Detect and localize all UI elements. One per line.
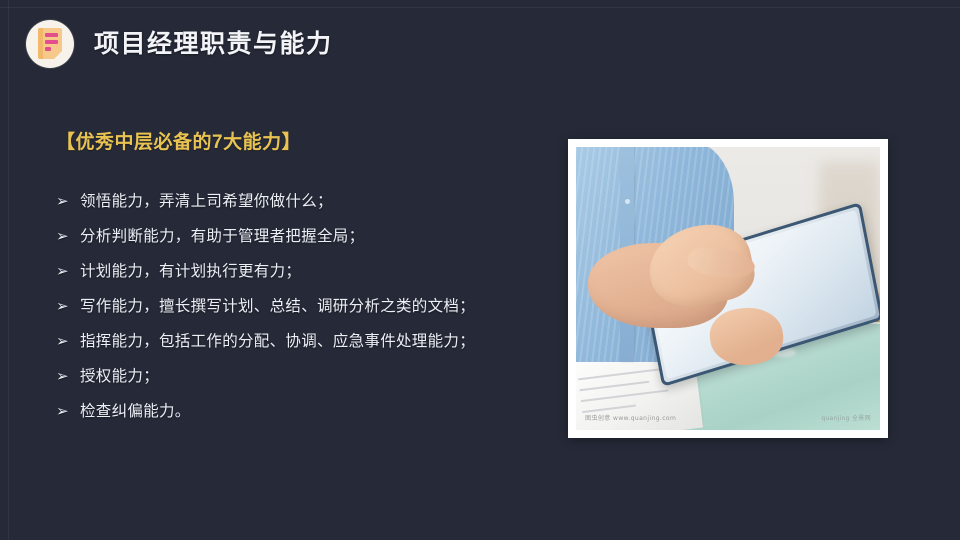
list-item: ➢ 计划能力，有计划执行更有力； <box>56 261 556 283</box>
photo-watermark-left: 图虫创意 www.quanjing.com <box>585 413 676 422</box>
arrow-bullet-icon: ➢ <box>56 226 80 248</box>
list-item: ➢ 分析判断能力，有助于管理者把握全局； <box>56 226 556 248</box>
document-bar-bottom <box>45 47 51 51</box>
photo-frame: 图虫创意 www.quanjing.com quanjing 全景网 <box>568 139 888 438</box>
list-item-label: 分析判断能力，有助于管理者把握全局； <box>80 226 364 248</box>
photo-watermark-right: quanjing 全景网 <box>821 413 871 422</box>
photo-paper-line <box>581 389 669 402</box>
list-item-label: 检查纠偏能力。 <box>80 401 191 423</box>
list-item: ➢ 写作能力，擅长撰写计划、总结、调研分析之类的文档； <box>56 296 556 318</box>
capability-list: ➢ 领悟能力，弄清上司希望你做什么； ➢ 分析判断能力，有助于管理者把握全局； … <box>56 191 556 423</box>
document-bar-middle <box>45 40 58 44</box>
slide-canvas: 项目经理职责与能力 【优秀中层必备的7大能力】 ➢ 领悟能力，弄清上司希望你做什… <box>0 0 960 540</box>
document-badge-icon <box>26 20 74 68</box>
list-item-label: 写作能力，擅长撰写计划、总结、调研分析之类的文档； <box>80 296 475 318</box>
list-item: ➢ 检查纠偏能力。 <box>56 401 556 423</box>
arrow-bullet-icon: ➢ <box>56 401 80 423</box>
list-item: ➢ 指挥能力，包括工作的分配、协调、应急事件处理能力； <box>56 331 556 353</box>
list-item: ➢ 领悟能力，弄清上司希望你做什么； <box>56 191 556 213</box>
photo-paper-line <box>578 368 661 380</box>
arrow-bullet-icon: ➢ <box>56 331 80 353</box>
document-bar-top <box>45 33 58 37</box>
arrow-bullet-icon: ➢ <box>56 261 80 283</box>
arrow-bullet-icon: ➢ <box>56 191 80 213</box>
photo-shirt-button <box>625 199 630 204</box>
list-item-label: 计划能力，有计划执行更有力； <box>80 261 301 283</box>
arrow-bullet-icon: ➢ <box>56 296 80 318</box>
page-title: 项目经理职责与能力 <box>94 32 333 57</box>
arrow-bullet-icon: ➢ <box>56 366 80 388</box>
list-item-label: 指挥能力，包括工作的分配、协调、应急事件处理能力； <box>80 331 475 353</box>
section-heading: 【优秀中层必备的7大能力】 <box>56 132 556 155</box>
document-spine <box>38 28 43 59</box>
content-column: 【优秀中层必备的7大能力】 ➢ 领悟能力，弄清上司希望你做什么； ➢ 分析判断能… <box>56 132 556 436</box>
list-item: ➢ 授权能力； <box>56 366 556 388</box>
list-item-label: 授权能力； <box>80 366 159 388</box>
tablet-usage-photo: 图虫创意 www.quanjing.com quanjing 全景网 <box>576 147 880 430</box>
list-item-label: 领悟能力，弄清上司希望你做什么； <box>80 191 333 213</box>
slide-header: 项目经理职责与能力 <box>0 0 960 88</box>
photo-paper-line <box>579 381 648 391</box>
